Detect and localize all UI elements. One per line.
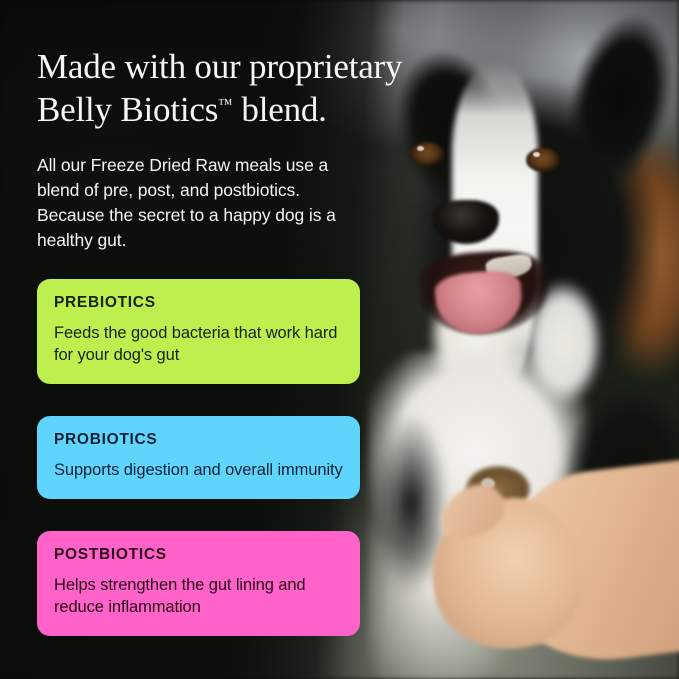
banner-content: Made with our proprietary Belly Biotics™… [0,0,679,679]
subcopy-paragraph: All our Freeze Dried Raw meals use a ble… [37,153,355,253]
headline-line-2-suffix: blend. [233,90,327,129]
headline-line-2-brand: Belly Biotics [37,90,218,129]
promo-banner: Made with our proprietary Belly Biotics™… [0,0,679,679]
card-title-probiotics: PROBIOTICS [54,431,343,449]
card-body-prebiotics: Feeds the good bacteria that work hard f… [54,323,343,367]
benefit-card-probiotics: PROBIOTICS Supports digestion and overal… [37,416,360,499]
trademark-symbol: ™ [218,97,233,113]
card-body-postbiotics: Helps strengthen the gut lining and redu… [54,575,343,619]
benefit-card-list: PREBIOTICS Feeds the good bacteria that … [37,279,360,636]
page-title: Made with our proprietary Belly Biotics™… [37,45,467,132]
card-title-postbiotics: POSTBIOTICS [54,546,343,564]
headline-line-1: Made with our proprietary [37,47,402,86]
benefit-card-prebiotics: PREBIOTICS Feeds the good bacteria that … [37,279,360,384]
benefit-card-postbiotics: POSTBIOTICS Helps strengthen the gut lin… [37,531,360,636]
card-title-prebiotics: PREBIOTICS [54,294,343,312]
card-body-probiotics: Supports digestion and overall immunity [54,460,343,482]
